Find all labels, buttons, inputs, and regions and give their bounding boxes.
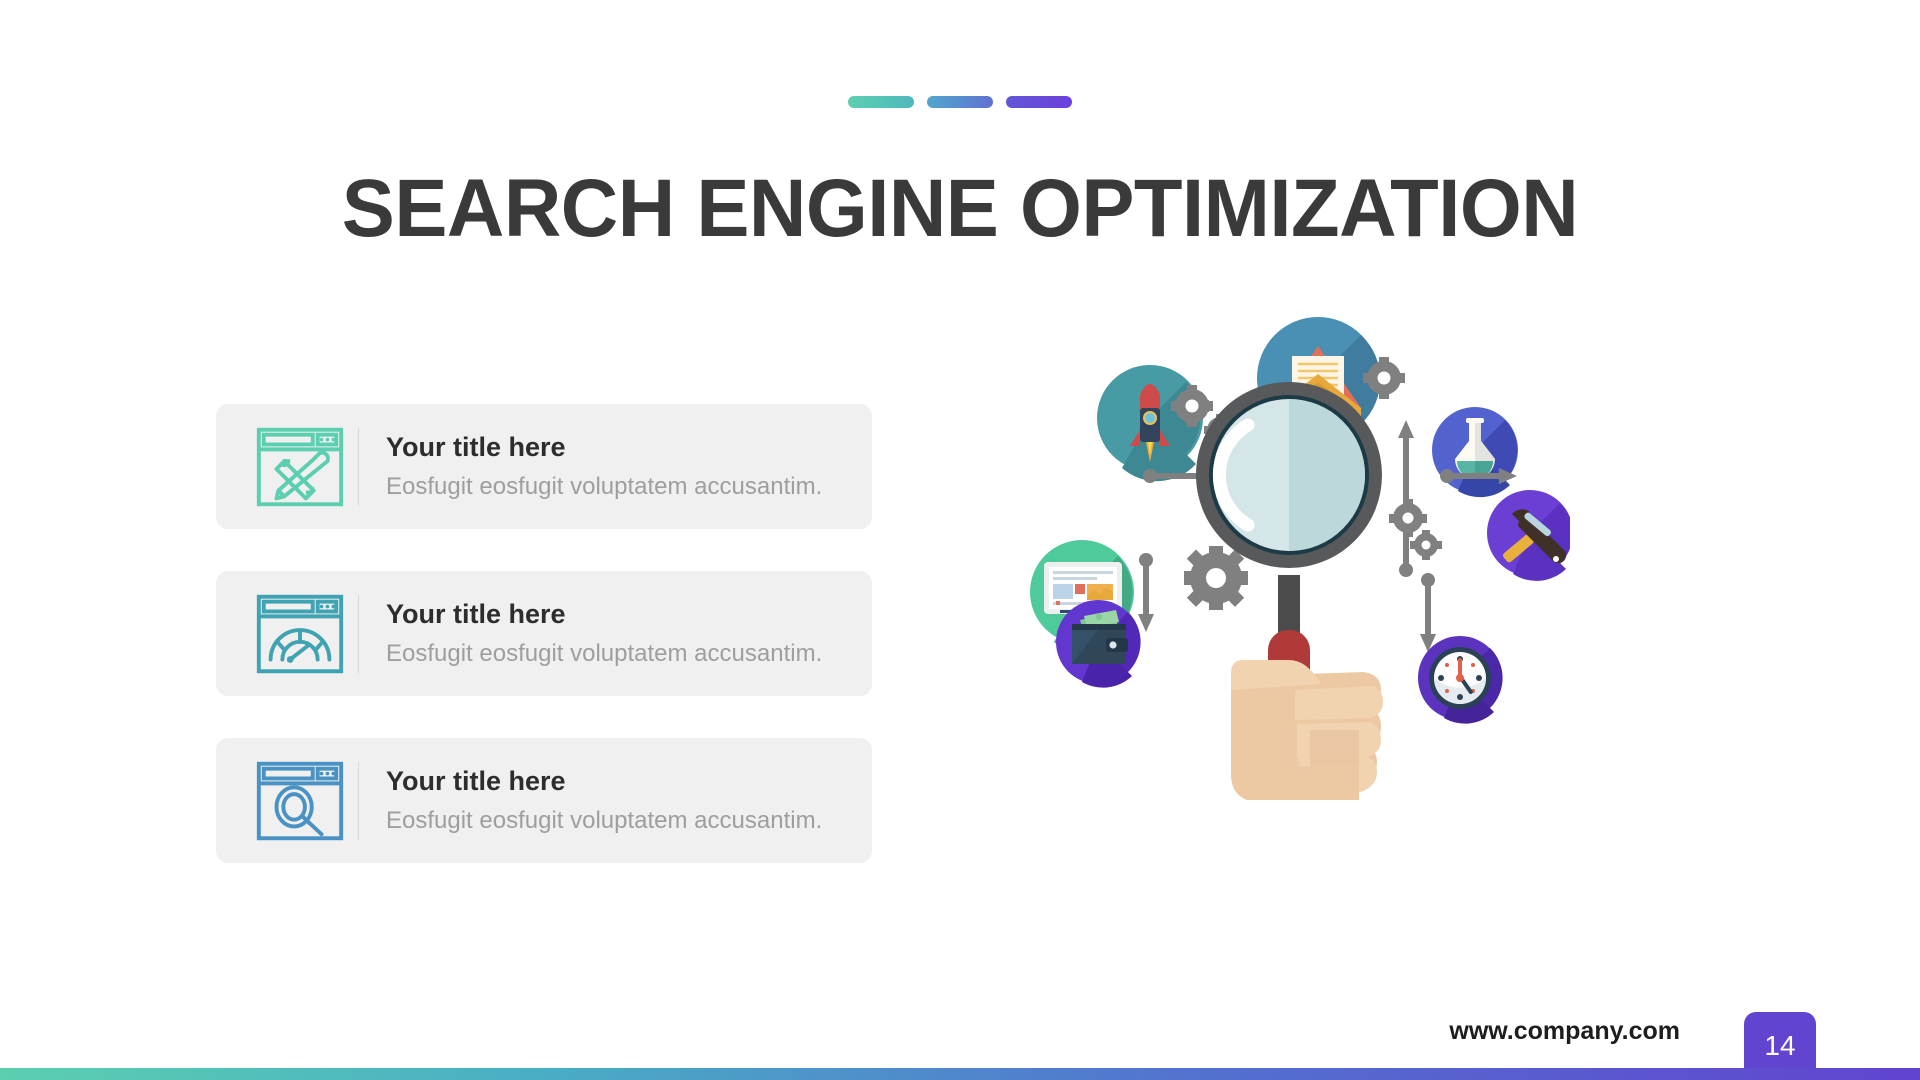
card-divider [358,762,359,840]
wallet-icon [1056,600,1141,688]
card-subtitle: Eosfugit eosfugit voluptatem accusantim. [386,807,822,836]
card-title: Your title here [386,765,822,797]
clock-icon [1418,636,1503,724]
card-title: Your title here [386,431,822,463]
browser-speed-gauge-icon [248,585,352,683]
gear-icon [1389,499,1427,537]
dash-green-icon [848,96,914,108]
card-subtitle: Eosfugit eosfugit voluptatem accusantim. [386,640,822,669]
gear-icon-small [1410,530,1442,560]
arrow-vertical-up-right-icon [1398,420,1414,577]
bottom-gradient-bar [0,1068,1920,1080]
magnifying-glass-icon [1196,382,1382,568]
browser-search-icon [248,752,352,850]
feature-card[interactable]: Your title here Eosfugit eosfugit volupt… [216,404,872,529]
footer-url[interactable]: www.company.com [1449,1017,1680,1046]
seo-magnifier-illustration [1010,290,1570,990]
flask-icon [1432,407,1518,497]
card-text: Your title here Eosfugit eosfugit volupt… [386,598,822,669]
dash-blue-icon [927,96,993,108]
hand-icon [1231,660,1383,800]
slide: SEARCH ENGINE OPTIMIZATION [0,0,1920,1080]
page-title: SEARCH ENGINE OPTIMIZATION [29,168,1891,250]
dash-purple-icon [1006,96,1072,108]
gear-icon-large [1184,546,1248,610]
card-divider [358,428,359,506]
card-divider [358,595,359,673]
tools-icon [1487,490,1570,581]
feature-card[interactable]: Your title here Eosfugit eosfugit volupt… [216,571,872,696]
card-title: Your title here [386,598,822,630]
arrow-vertical-down-right-icon [1420,573,1436,652]
card-text: Your title here Eosfugit eosfugit volupt… [386,431,822,502]
feature-card-list: Your title here Eosfugit eosfugit volupt… [216,404,872,905]
feature-card[interactable]: Your title here Eosfugit eosfugit volupt… [216,738,872,863]
card-subtitle: Eosfugit eosfugit voluptatem accusantim. [386,473,822,502]
card-text: Your title here Eosfugit eosfugit volupt… [386,765,822,836]
decor-dashes [0,96,1920,108]
arrow-vertical-down-left-icon [1138,553,1154,632]
browser-design-icon [248,418,352,516]
